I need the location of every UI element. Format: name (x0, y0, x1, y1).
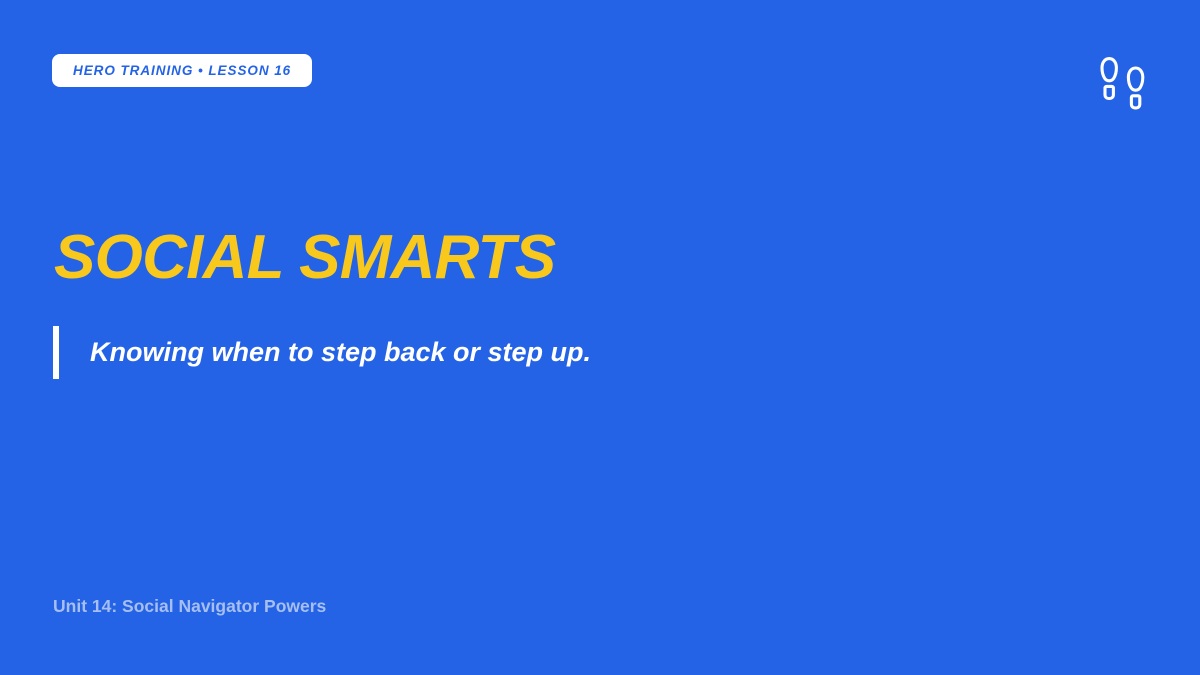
footer-unit-label: Unit 14: Social Navigator Powers (53, 596, 326, 617)
slide-canvas: HERO TRAINING • LESSON 16 SOCIAL SMARTS … (0, 0, 1200, 675)
footprints-icon (1096, 50, 1162, 116)
headline-block: SOCIAL SMARTS (54, 226, 1054, 289)
subtitle-text: Knowing when to step back or step up. (90, 338, 591, 368)
lesson-badge: HERO TRAINING • LESSON 16 (52, 54, 312, 87)
lesson-badge-label: HERO TRAINING • LESSON 16 (73, 64, 291, 78)
subtitle-row: Knowing when to step back or step up. (53, 326, 591, 379)
accent-bar (53, 326, 59, 379)
page-title: SOCIAL SMARTS (54, 226, 1054, 289)
